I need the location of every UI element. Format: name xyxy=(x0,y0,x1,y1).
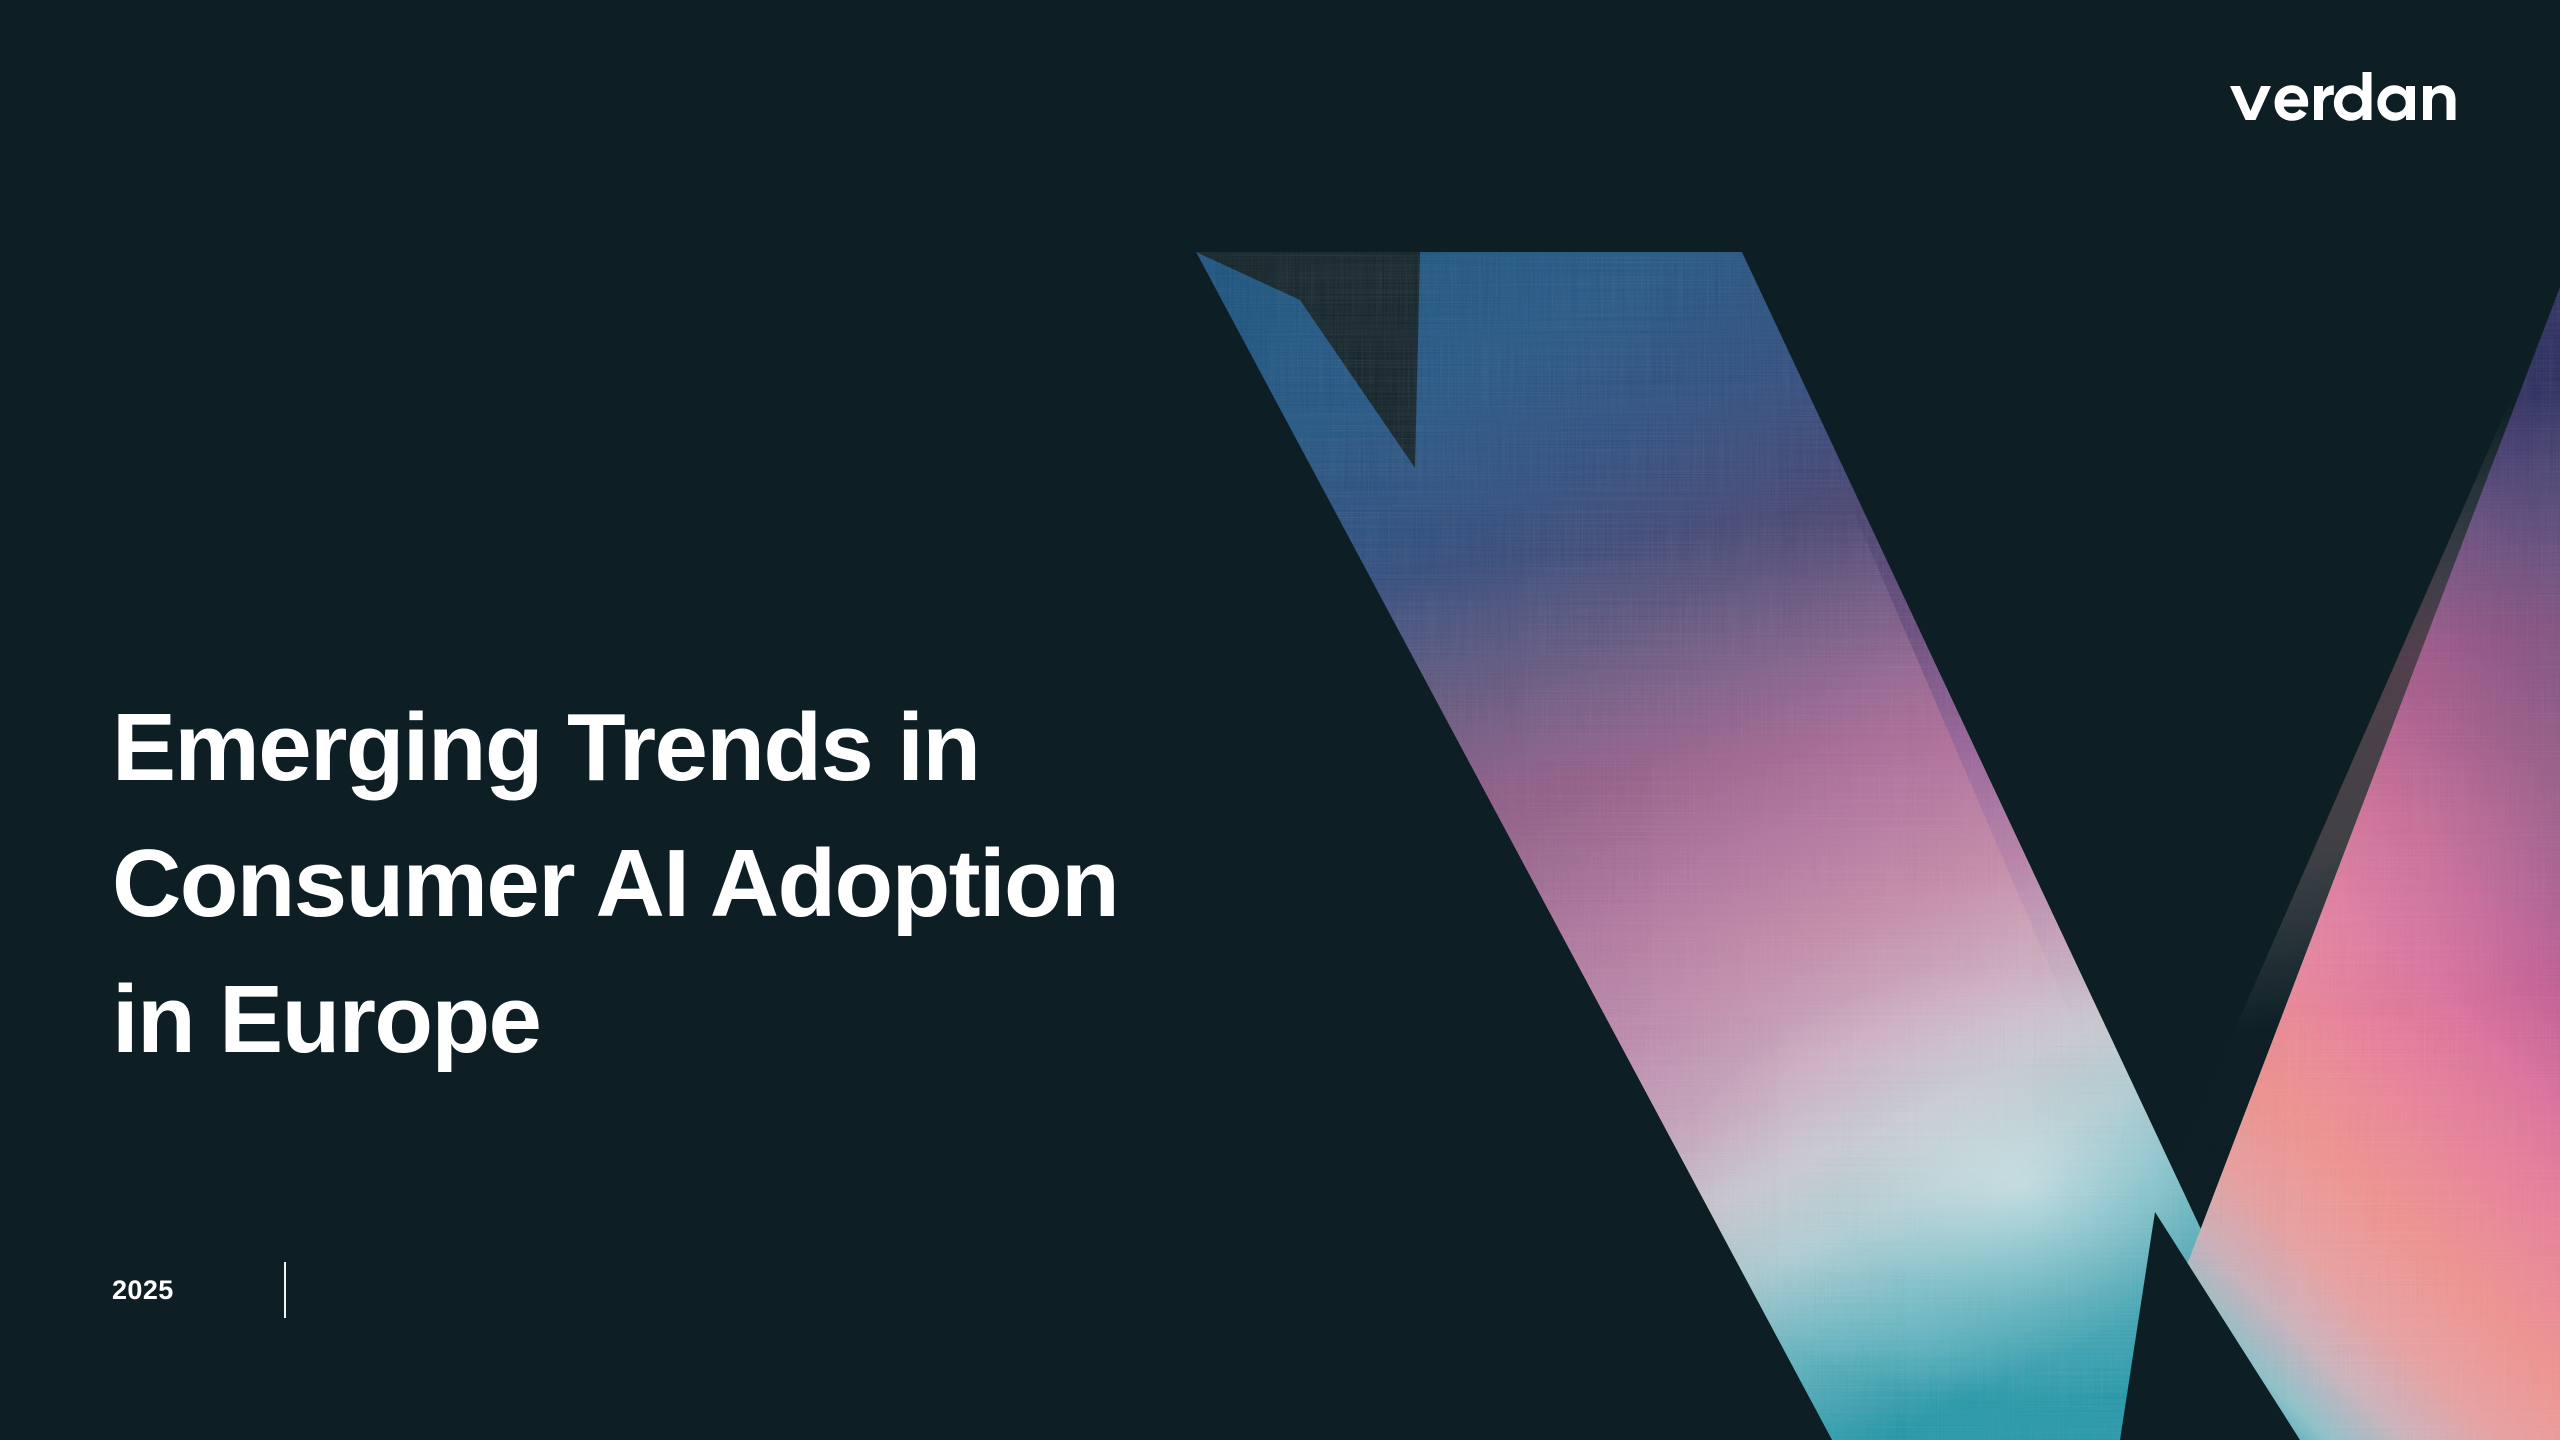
page-title: Emerging Trends in Consumer AI Adoption … xyxy=(112,680,1562,1088)
v-notch-top xyxy=(1742,0,2560,287)
v-right-stroke xyxy=(2080,250,2560,1440)
title-line-3: in Europe xyxy=(112,952,1562,1088)
title-line-2: Consumer AI Adoption xyxy=(112,816,1562,952)
v-notch-bottom xyxy=(2120,1212,2300,1440)
year-label: 2025 xyxy=(112,1277,174,1304)
title-line-1: Emerging Trends in xyxy=(112,680,1562,816)
footer: 2025 xyxy=(112,1262,286,1318)
verdane-logo[interactable] xyxy=(2228,70,2460,126)
footer-divider xyxy=(284,1262,286,1318)
title-slide: Emerging Trends in Consumer AI Adoption … xyxy=(0,0,2560,1440)
